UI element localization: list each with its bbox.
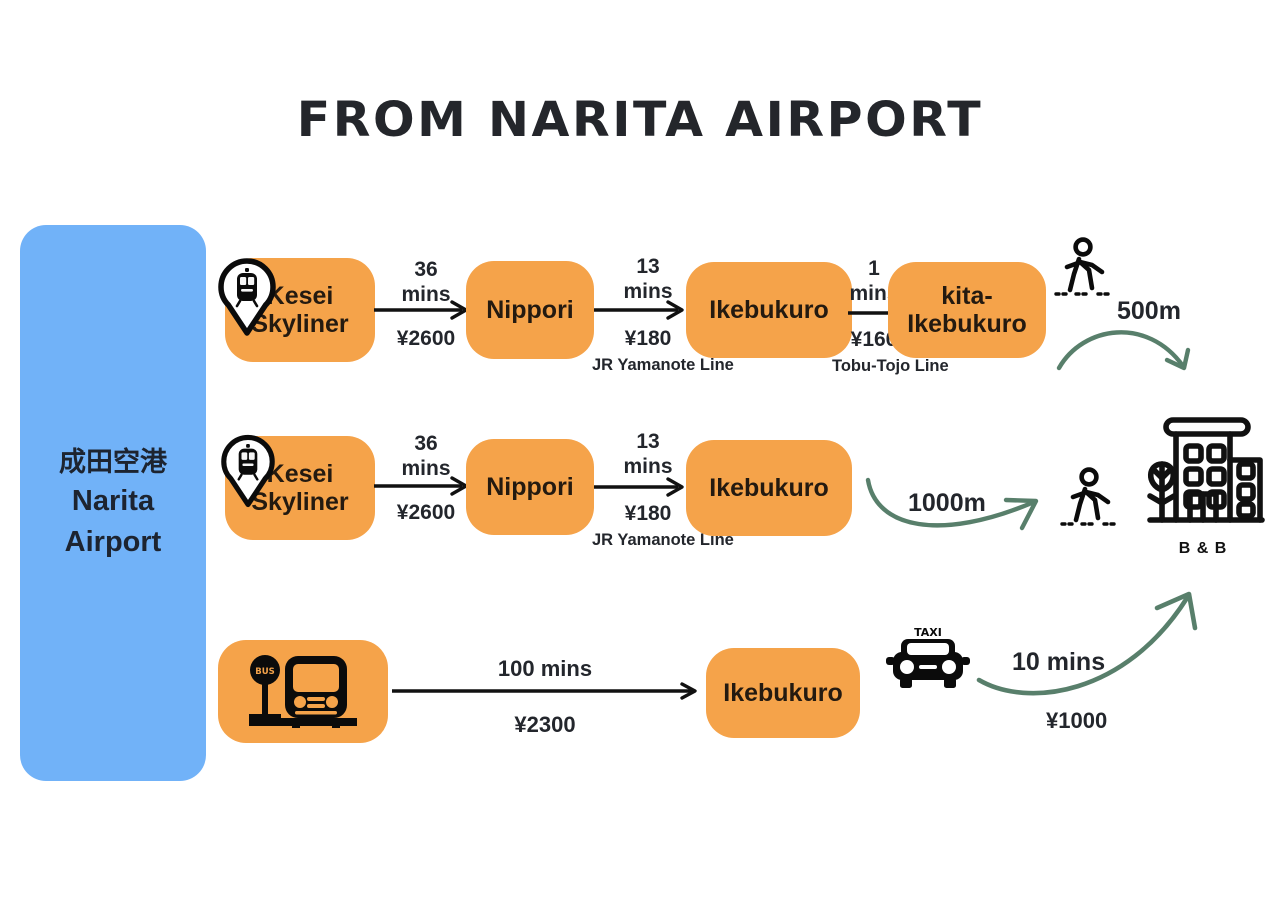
node-nippori-row2[interactable]: Nippori: [466, 439, 594, 535]
train-map-pin-icon: [221, 434, 275, 508]
leg-line-name: JR Yamanote Line: [592, 531, 704, 550]
leg-line-name: JR Yamanote Line: [592, 356, 704, 375]
leg-duration-number: 13: [636, 255, 659, 278]
walking-icon-row1: [1052, 236, 1124, 304]
building-tree-icon: [1140, 408, 1266, 536]
node-label: Nippori: [486, 473, 574, 501]
leg-duration-number: 13: [636, 430, 659, 453]
leg-line-name: Tobu-Tojo Line: [832, 357, 916, 376]
arrow-r1-2: [594, 300, 690, 320]
bus-stop-icon: BUS: [243, 652, 365, 732]
origin-english-line1: Narita: [59, 481, 167, 522]
origin-english-line2: Airport: [59, 522, 167, 563]
node-label: Ikebukuro: [709, 296, 828, 324]
node-label: Nippori: [486, 296, 574, 324]
distance-label-1000m: 1000m: [908, 489, 986, 518]
origin-japanese: 成田空港: [59, 443, 167, 481]
destination-label: B & B: [1140, 540, 1266, 558]
node-ikebukuro-row1[interactable]: Ikebukuro: [686, 262, 852, 358]
node-ikebukuro-row2[interactable]: Ikebukuro: [686, 440, 852, 536]
train-map-pin-icon: [218, 258, 276, 336]
node-nippori-row1[interactable]: Nippori: [466, 261, 594, 359]
node-label-line1: kita-: [907, 282, 1026, 310]
node-ikebukuro-row3[interactable]: Ikebukuro: [706, 648, 860, 738]
infographic-canvas: FROM NARITA AIRPORT 成田空港 Narita Airport …: [0, 0, 1280, 900]
leg-duration-number: 1: [868, 257, 880, 280]
taxi-icon: TAXI: [885, 622, 971, 694]
node-label: Ikebukuro: [709, 474, 828, 502]
leg-fare: ¥2300: [435, 712, 655, 738]
page-title: FROM NARITA AIRPORT: [0, 92, 1280, 148]
arrow-r3-1: [392, 681, 704, 701]
leg-duration-number: 36: [414, 258, 437, 281]
node-label-line2: Ikebukuro: [907, 310, 1026, 338]
leg-duration-number: 100 mins: [498, 656, 592, 681]
walking-icon-row2: [1058, 466, 1130, 534]
green-arrow-500m: [1055, 310, 1215, 390]
green-arrow-taxi: [975, 588, 1205, 706]
leg-duration-number: 36: [414, 432, 437, 455]
leg-duration-unit: mins: [623, 455, 672, 478]
node-kita-ikebukuro-row1[interactable]: kita- Ikebukuro: [888, 262, 1046, 358]
arrow-r2-2: [594, 477, 690, 497]
taxi-duration-label: 10 mins: [1012, 648, 1105, 677]
arrow-r1-1: [374, 300, 474, 320]
origin-panel: 成田空港 Narita Airport: [20, 225, 206, 781]
origin-label: 成田空港 Narita Airport: [59, 443, 167, 564]
arrow-r2-1: [374, 476, 474, 496]
taxi-badge: TAXI: [914, 626, 942, 639]
taxi-fare-label: ¥1000: [1046, 708, 1107, 734]
svg-text:BUS: BUS: [255, 667, 275, 677]
node-label: Ikebukuro: [723, 679, 842, 707]
